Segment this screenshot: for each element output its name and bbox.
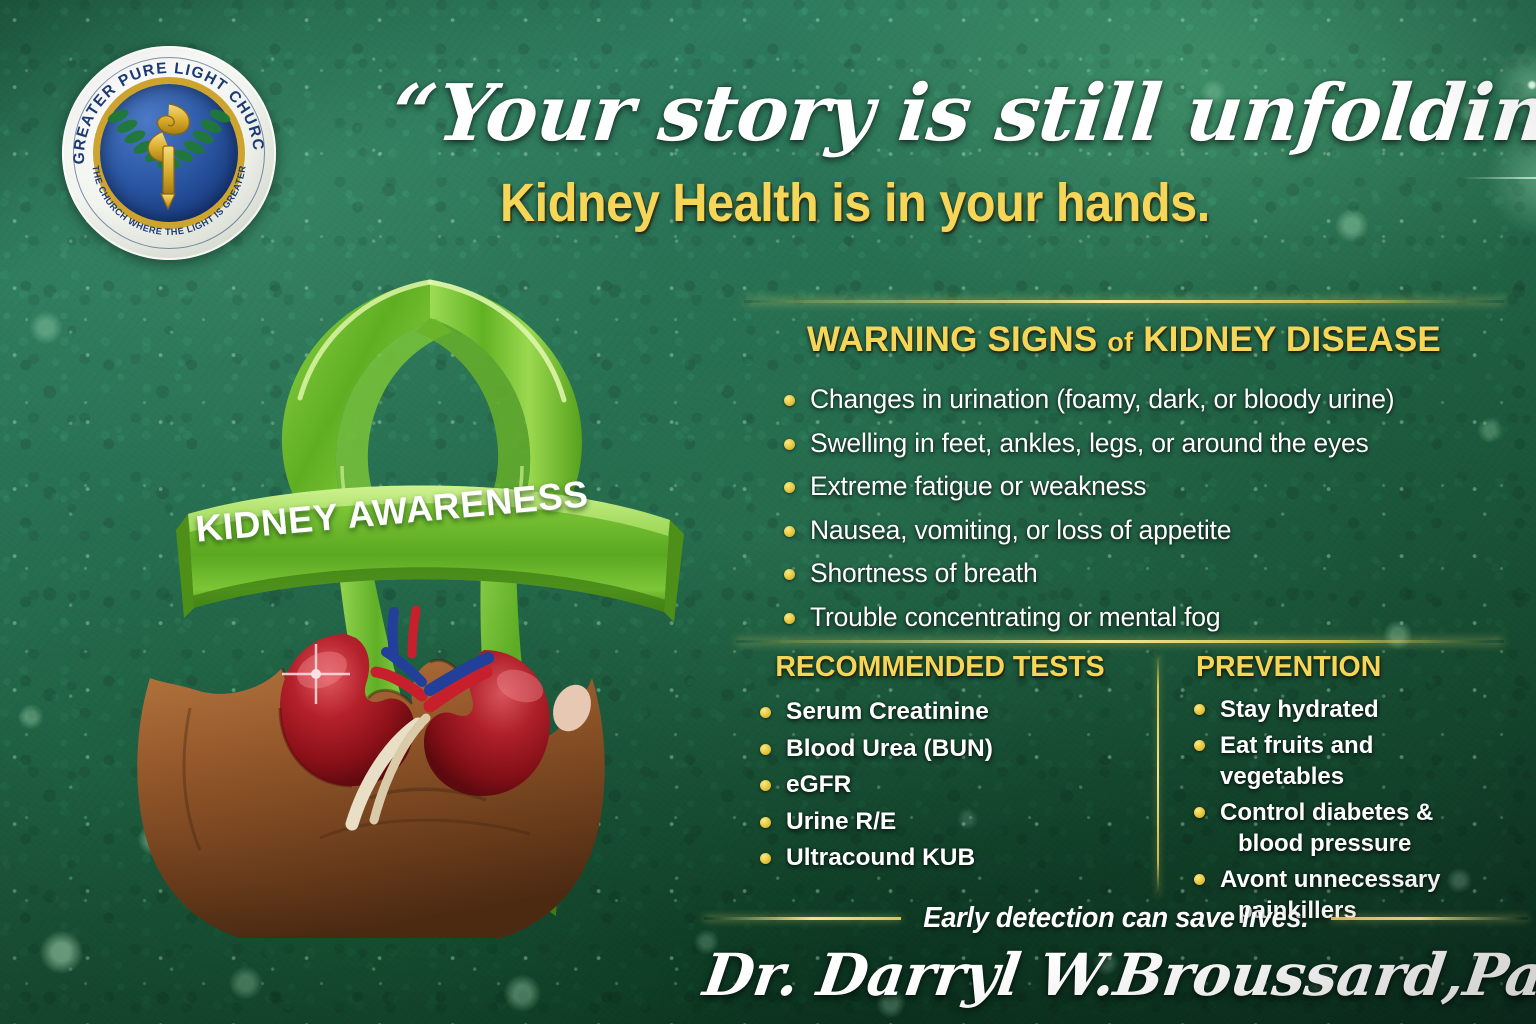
list-item: Ultracound KUB [756,840,1136,877]
list-item-line1: Control diabetes & [1220,799,1433,826]
warning-signs-list: Changes in urination (foamy, dark, or bl… [744,378,1504,639]
headline: “Your story is still unfolding. [386,62,1337,170]
tagline-rule-left [704,917,901,920]
logo-artwork: GREATER PURE LIGHT CHURCH THE CHURCH WHE… [62,46,276,260]
list-item: Nausea, vomiting, or loss of appetite [780,509,1504,553]
lower-columns: RECOMMENDED TESTS Serum Creatinine Blood… [744,650,1504,902]
list-item: Urine R/E [756,804,1136,841]
list-item: Changes in urination (foamy, dark, or bl… [780,378,1504,422]
list-item: Eat fruits and vegetables [1190,730,1504,792]
kidney-awareness-artwork: KIDNEY AWARENESS [130,238,730,938]
subheadline: Kidney Health is in your hands. [500,172,1238,234]
warning-title-conj: of [1107,327,1133,357]
list-item: Serum Creatinine [756,694,1136,731]
list-item-line1: Stay hydrated [1220,696,1379,723]
prevention-section: PREVENTION Stay hydrated Eat fruits and … [1174,650,1504,931]
list-item: Trouble concentrating or mental fog [780,596,1504,640]
list-item-line1: Eat fruits and vegetables [1220,732,1373,790]
pastor-signature: Dr. Darryl W.Broussard,Pastor [699,936,1534,1014]
divider-middle [736,640,1504,643]
list-item: Extreme fatigue or weakness [780,465,1504,509]
recommended-tests-section: RECOMMENDED TESTS Serum Creatinine Blood… [744,650,1136,877]
list-item-line2: blood pressure [1220,828,1504,859]
prevention-list: Stay hydrated Eat fruits and vegetables … [1174,694,1504,926]
kidney-awareness-poster: GREATER PURE LIGHT CHURCH THE CHURCH WHE… [0,0,1536,1024]
tagline-row: Early detection can save lives. [704,898,1528,938]
recommended-tests-list: Serum Creatinine Blood Urea (BUN) eGFR U… [744,694,1136,877]
list-item-line1: Avont unnecessary [1220,866,1441,893]
list-item: Swelling in feet, ankles, legs, or aroun… [780,422,1504,466]
artwork-svg [130,238,730,938]
warning-title-main: WARNING SIGNS [807,320,1097,359]
warning-signs-title: WARNING SIGNS of KIDNEY DISEASE [744,318,1504,364]
list-item: Control diabetes & blood pressure [1190,797,1504,859]
church-logo: GREATER PURE LIGHT CHURCH THE CHURCH WHE… [62,46,276,260]
tagline-rule-right [1331,917,1528,920]
list-item: Stay hydrated [1190,694,1504,725]
list-item: Shortness of breath [780,552,1504,596]
tagline: Early detection can save lives. [923,902,1308,935]
prevention-title: PREVENTION [1174,650,1504,684]
list-item: eGFR [756,767,1136,804]
warning-title-tail: KIDNEY DISEASE [1143,320,1441,359]
divider-top [744,300,1504,303]
warning-signs-section: WARNING SIGNS of KIDNEY DISEASE Changes … [744,318,1504,639]
list-item: Blood Urea (BUN) [756,731,1136,768]
recommended-tests-title: RECOMMENDED TESTS [744,650,1136,684]
